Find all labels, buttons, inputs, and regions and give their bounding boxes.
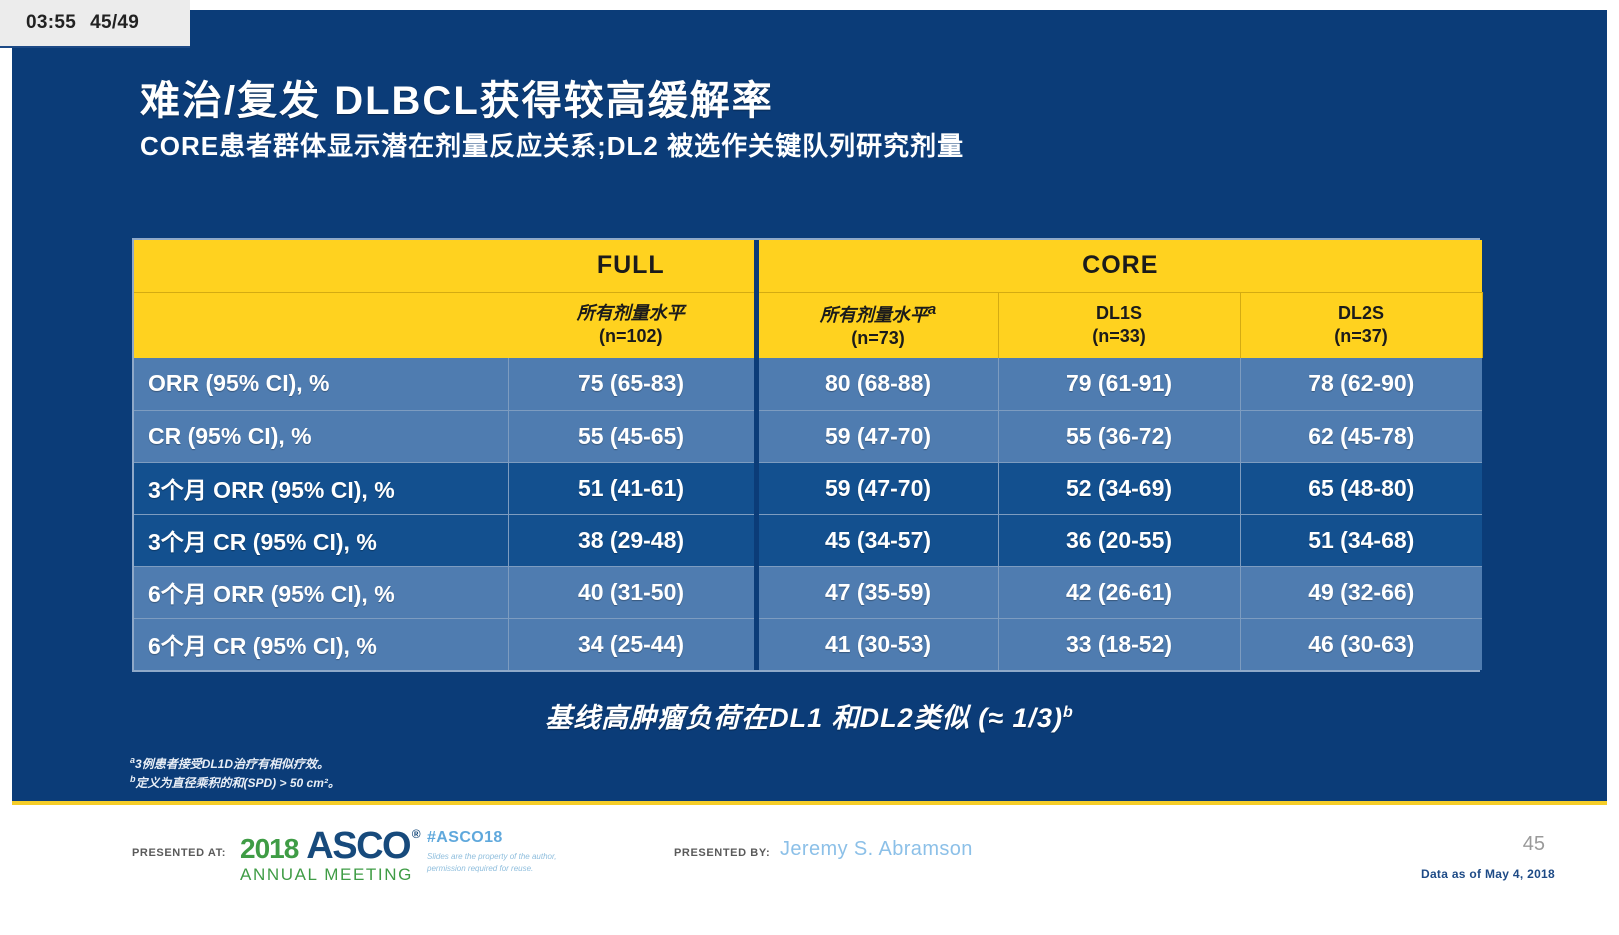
data-as-of-label: Data as of May 4, 2018 <box>1421 867 1555 881</box>
sub-header-blank <box>134 292 508 358</box>
results-table: FULL CORE 所有剂量水平 (n=102) 所有剂量水平a (n=73) <box>134 240 1483 670</box>
group-header-full: FULL <box>508 240 756 292</box>
trademark-icon: ® <box>412 827 419 841</box>
footnote-a-text: 3例患者接受DL1D治疗有相似疗效。 <box>135 757 329 771</box>
title-block: 难治/复发 DLBCL获得较高缓解率 CORE患者群体显示潜在剂量反应关系;DL… <box>140 78 1490 162</box>
cell-dl1s: 79 (61-91) <box>998 358 1240 410</box>
table-row: 3个月 CR (95% CI), % 38 (29-48) 45 (34-57)… <box>134 514 1482 566</box>
screen: 难治/复发 DLBCL获得较高缓解率 CORE患者群体显示潜在剂量反应关系;DL… <box>0 0 1619 935</box>
table-caption-text: 基线高肿瘤负荷在DL1 和DL2类似 (≈ 1/3) <box>545 703 1063 733</box>
sub-header-core-n: (n=73) <box>759 327 998 350</box>
row-label: 3个月 CR (95% CI), % <box>134 514 508 566</box>
cell-dl2s: 65 (48-80) <box>1240 462 1482 514</box>
footnote-b: b定义为直径乘积的和(SPD) > 50 cm²。 <box>130 773 340 792</box>
table-body: ORR (95% CI), % 75 (65-83) 80 (68-88) 79… <box>134 358 1482 670</box>
cell-full: 75 (65-83) <box>508 358 756 410</box>
row-label: CR (95% CI), % <box>134 410 508 462</box>
sub-header-core-all-dose: 所有剂量水平a (n=73) <box>756 292 998 358</box>
cell-dl1s: 55 (36-72) <box>998 410 1240 462</box>
table-row: 6个月 ORR (95% CI), % 40 (31-50) 47 (35-59… <box>134 566 1482 618</box>
sub-header-dl1s-n: (n=33) <box>999 325 1240 348</box>
row-label: 3个月 ORR (95% CI), % <box>134 462 508 514</box>
presented-by-label: PRESENTED BY: <box>674 847 770 859</box>
sub-header-dl1s: DL1S (n=33) <box>998 292 1240 358</box>
footnotes: a3例患者接受DL1D治疗有相似疗效。 b定义为直径乘积的和(SPD) > 50… <box>130 754 340 793</box>
table-sub-header-row: 所有剂量水平 (n=102) 所有剂量水平a (n=73) DL1S (n=33… <box>134 292 1482 358</box>
slide-footer: PRESENTED AT: 2018 ASCO® ANNUAL MEETING … <box>12 805 1607 925</box>
cell-dl2s: 49 (32-66) <box>1240 566 1482 618</box>
sub-header-full-label: 所有剂量水平 <box>508 302 754 325</box>
table-row: ORR (95% CI), % 75 (65-83) 80 (68-88) 79… <box>134 358 1482 410</box>
elapsed-timer: 03:55 <box>26 12 76 34</box>
table-header: FULL CORE 所有剂量水平 (n=102) 所有剂量水平a (n=73) <box>134 240 1482 358</box>
asco-logo-year: 2018 <box>240 833 298 865</box>
table-group-header-row: FULL CORE <box>134 240 1482 292</box>
cell-full: 34 (25-44) <box>508 618 756 670</box>
cell-dl1s: 36 (20-55) <box>998 514 1240 566</box>
sub-header-dl2s: DL2S (n=37) <box>1240 292 1482 358</box>
cell-core-all: 59 (47-70) <box>756 410 998 462</box>
slide-counter: 45/49 <box>90 12 139 34</box>
cell-dl1s: 33 (18-52) <box>998 618 1240 670</box>
asco-logo-wordmark: ASCO® <box>306 825 410 868</box>
cell-dl2s: 46 (30-63) <box>1240 618 1482 670</box>
table-caption-superscript: b <box>1063 704 1074 721</box>
sub-header-dl2s-label: DL2S <box>1241 302 1482 325</box>
cell-full: 51 (41-61) <box>508 462 756 514</box>
table-row: 6个月 CR (95% CI), % 34 (25-44) 41 (30-53)… <box>134 618 1482 670</box>
cell-full: 38 (29-48) <box>508 514 756 566</box>
table-caption: 基线高肿瘤负荷在DL1 和DL2类似 (≈ 1/3)b <box>12 696 1607 735</box>
cell-dl2s: 78 (62-90) <box>1240 358 1482 410</box>
copyright-fineprint: Slides are the property of the author, p… <box>427 851 597 874</box>
presenter-name: Jeremy S. Abramson <box>780 838 973 861</box>
cell-full: 40 (31-50) <box>508 566 756 618</box>
presented-at-label: PRESENTED AT: <box>132 847 226 859</box>
page-title: 难治/复发 DLBCL获得较高缓解率 <box>140 78 1490 125</box>
asco-logo-subtitle: ANNUAL MEETING <box>240 865 413 885</box>
cell-core-all: 47 (35-59) <box>756 566 998 618</box>
sub-header-full-all-dose: 所有剂量水平 (n=102) <box>508 292 756 358</box>
hashtag-label: #ASCO18 <box>427 829 503 847</box>
sub-header-dl2s-n: (n=37) <box>1241 325 1482 348</box>
table-row: 3个月 ORR (95% CI), % 51 (41-61) 59 (47-70… <box>134 462 1482 514</box>
results-table-container: FULL CORE 所有剂量水平 (n=102) 所有剂量水平a (n=73) <box>132 238 1480 672</box>
row-label: 6个月 CR (95% CI), % <box>134 618 508 670</box>
cell-dl1s: 42 (26-61) <box>998 566 1240 618</box>
presentation-slide: 难治/复发 DLBCL获得较高缓解率 CORE患者群体显示潜在剂量反应关系;DL… <box>12 10 1607 805</box>
sub-header-full-n: (n=102) <box>508 325 754 348</box>
cell-full: 55 (45-65) <box>508 410 756 462</box>
cell-core-all: 80 (68-88) <box>756 358 998 410</box>
cell-dl2s: 51 (34-68) <box>1240 514 1482 566</box>
page-number: 45 <box>1523 833 1545 856</box>
sub-header-core-label: 所有剂量水平a <box>759 300 998 327</box>
footnote-a: a3例患者接受DL1D治疗有相似疗效。 <box>130 754 340 773</box>
viewer-status-bar: 03:55 45/49 <box>0 0 190 48</box>
cell-dl2s: 62 (45-78) <box>1240 410 1482 462</box>
group-header-blank <box>134 240 508 292</box>
row-label: 6个月 ORR (95% CI), % <box>134 566 508 618</box>
cell-core-all: 45 (34-57) <box>756 514 998 566</box>
asco-logo: 2018 ASCO® ANNUAL MEETING <box>240 825 413 885</box>
table-row: CR (95% CI), % 55 (45-65) 59 (47-70) 55 … <box>134 410 1482 462</box>
cell-core-all: 59 (47-70) <box>756 462 998 514</box>
sub-header-dl1s-label: DL1S <box>999 302 1240 325</box>
row-label: ORR (95% CI), % <box>134 358 508 410</box>
page-subtitle: CORE患者群体显示潜在剂量反应关系;DL2 被选作关键队列研究剂量 <box>140 131 1490 162</box>
cell-core-all: 41 (30-53) <box>756 618 998 670</box>
group-header-core: CORE <box>756 240 1482 292</box>
cell-dl1s: 52 (34-69) <box>998 462 1240 514</box>
footnote-b-text: 定义为直径乘积的和(SPD) > 50 cm²。 <box>136 776 340 790</box>
